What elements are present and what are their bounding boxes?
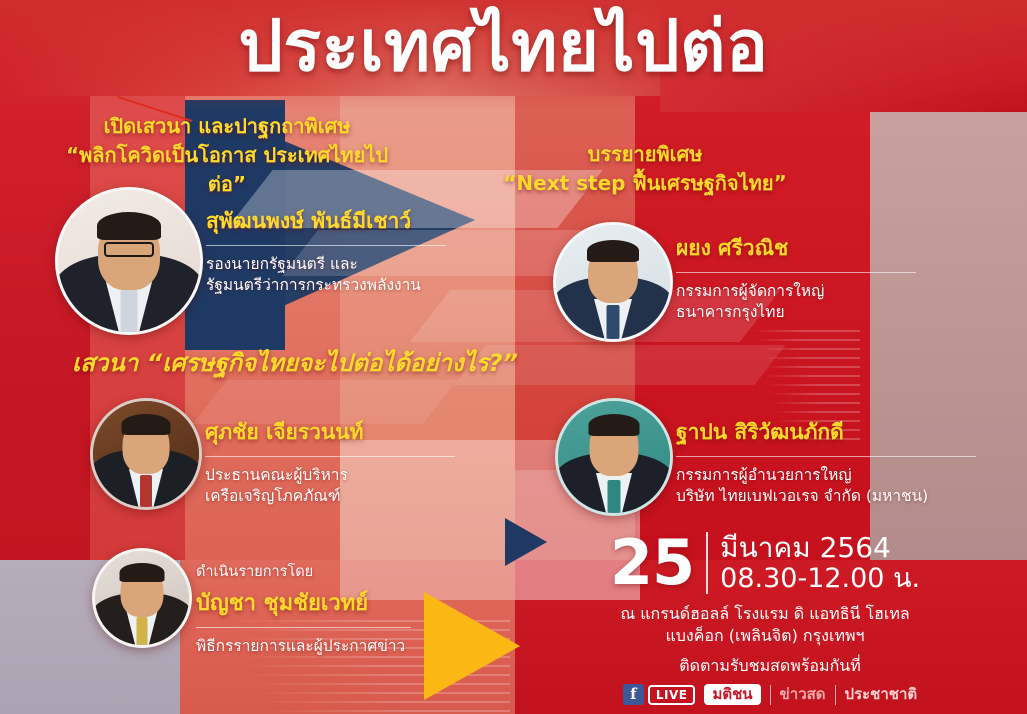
- speaker-role-line2-1: รัฐมนตรีว่าการกระทรวงพลังงาน: [206, 275, 446, 296]
- moderator-divider: [196, 627, 411, 628]
- facebook-live-badge[interactable]: f LIVE: [623, 684, 696, 705]
- venue-line-1: ณ แกรนด์ฮอลล์ โรงแรม ดิ แอทธินี โฮเทล: [600, 603, 930, 625]
- navy-play-triangle-icon: [505, 518, 547, 566]
- event-date-text: มีนาคม 2564 08.30-12.00 น.: [720, 532, 920, 594]
- speaker-photo-2: [553, 222, 673, 342]
- date-divider: [706, 532, 708, 594]
- speaker-info-1: สุพัฒนพงษ์ พันธ์มีเชาว์ รองนายกรัฐมนตรี …: [206, 205, 446, 297]
- moderator-name: บัญชา ชุมชัยเวทย์: [196, 585, 411, 620]
- speaker-info-4: ฐาปน สิริวัฒนภักดี กรรมการผู้อำนวยการใหญ…: [676, 416, 976, 508]
- speaker-name-1: สุพัฒนพงษ์ พันธ์มีเชาว์: [206, 205, 446, 238]
- speaker-info-2: ผยง ศรีวณิช กรรมการผู้จัดการใหญ่ ธนาคารก…: [676, 232, 916, 324]
- speaker-name-3: ศุภชัย เจียรวนนท์: [205, 416, 455, 449]
- logo-divider-1: [770, 685, 771, 705]
- yellow-play-triangle-icon: [424, 592, 520, 700]
- speaker-role-line1-1: รองนายกรัฐมนตรี และ: [206, 254, 446, 275]
- special-lecture-header: บรรยายพิเศษ “Next step ฟื้นเศรษฐกิจไทย”: [480, 140, 810, 198]
- speaker-role-line1-4: กรรมการผู้อำนวยการใหญ่: [676, 465, 976, 486]
- event-day: 25: [610, 534, 694, 591]
- logo-matichon[interactable]: มติชน: [704, 684, 760, 705]
- speaker-info-3: ศุภชัย เจียรวนนท์ ประธานคณะผู้บริหาร เคร…: [205, 416, 455, 508]
- moderator-photo: [92, 548, 192, 648]
- speaker-divider-3: [205, 456, 455, 457]
- speaker-divider-2: [676, 272, 916, 273]
- follow-label: ติดตามรับชมสดพร้อมกันที่: [570, 654, 970, 679]
- panel-session-label: เสวนา “เศรษฐกิจไทยจะไปต่อได้อย่างไร?”: [60, 348, 530, 379]
- speaker-photo-1: [55, 187, 203, 335]
- speaker-role-line1-2: กรรมการผู้จัดการใหญ่: [676, 281, 916, 302]
- speaker-divider-1: [206, 245, 446, 246]
- broadcast-logos: f LIVE มติชน ข่าวสด ประชาชาติ: [570, 684, 970, 705]
- event-time: 08.30-12.00 น.: [720, 564, 920, 594]
- speaker-divider-4: [676, 456, 976, 457]
- logo-divider-2: [835, 685, 836, 705]
- venue-line-2: แบงค็อก (เพลินจิต) กรุงเทพฯ: [600, 625, 930, 647]
- speaker-name-4: ฐาปน สิริวัฒนภักดี: [676, 416, 976, 449]
- speaker-role-line2-3: เครือเจริญโภคภัณฑ์: [205, 486, 455, 507]
- moderator-info: ดำเนินรายการโดย บัญชา ชุมชัยเวทย์ พิธีกร…: [196, 560, 411, 657]
- event-date-row: 25 มีนาคม 2564 08.30-12.00 น.: [600, 532, 930, 594]
- event-details: 25 มีนาคม 2564 08.30-12.00 น. ณ แกรนด์ฮอ…: [600, 532, 930, 647]
- footer: ติดตามรับชมสดพร้อมกันที่ f LIVE มติชน ข่…: [570, 654, 970, 705]
- live-label: LIVE: [648, 685, 696, 705]
- opening-session-header: เปิดเสวนา และปาฐกถาพิเศษ “พลิกโควิดเป็นโ…: [52, 112, 402, 199]
- speaker-role-line1-3: ประธานคณะผู้บริหาร: [205, 465, 455, 486]
- logo-prachachat[interactable]: ประชาชาติ: [845, 686, 918, 703]
- moderator-prefix: ดำเนินรายการโดย: [196, 560, 411, 583]
- page-title: ประเทศไทยไปต่อ: [0, 6, 1027, 87]
- event-poster: ประเทศไทยไปต่อ เปิดเสวนา และปาฐกถาพิเศษ …: [0, 0, 1027, 714]
- speaker-photo-4: [555, 398, 673, 516]
- special-lecture-topic: “Next step ฟื้นเศรษฐกิจไทย”: [480, 169, 810, 198]
- special-lecture-label: บรรยายพิเศษ: [480, 140, 810, 169]
- opening-session-label: เปิดเสวนา และปาฐกถาพิเศษ: [52, 112, 402, 141]
- speaker-name-2: ผยง ศรีวณิช: [676, 232, 916, 265]
- event-month-year: มีนาคม 2564: [720, 532, 920, 563]
- speaker-photo-3: [90, 398, 202, 510]
- logo-khaosod[interactable]: ข่าวสด: [780, 686, 826, 703]
- speaker-role-line2-4: บริษัท ไทยเบฟเวอเรจ จำกัด (มหาชน): [676, 486, 976, 507]
- moderator-role: พิธีกรรายการและผู้ประกาศข่าว: [196, 636, 411, 657]
- event-venue: ณ แกรนด์ฮอลล์ โรงแรม ดิ แอทธินี โฮเทล แบ…: [600, 603, 930, 647]
- facebook-icon[interactable]: f: [623, 684, 644, 705]
- speaker-role-line2-2: ธนาคารกรุงไทย: [676, 302, 916, 323]
